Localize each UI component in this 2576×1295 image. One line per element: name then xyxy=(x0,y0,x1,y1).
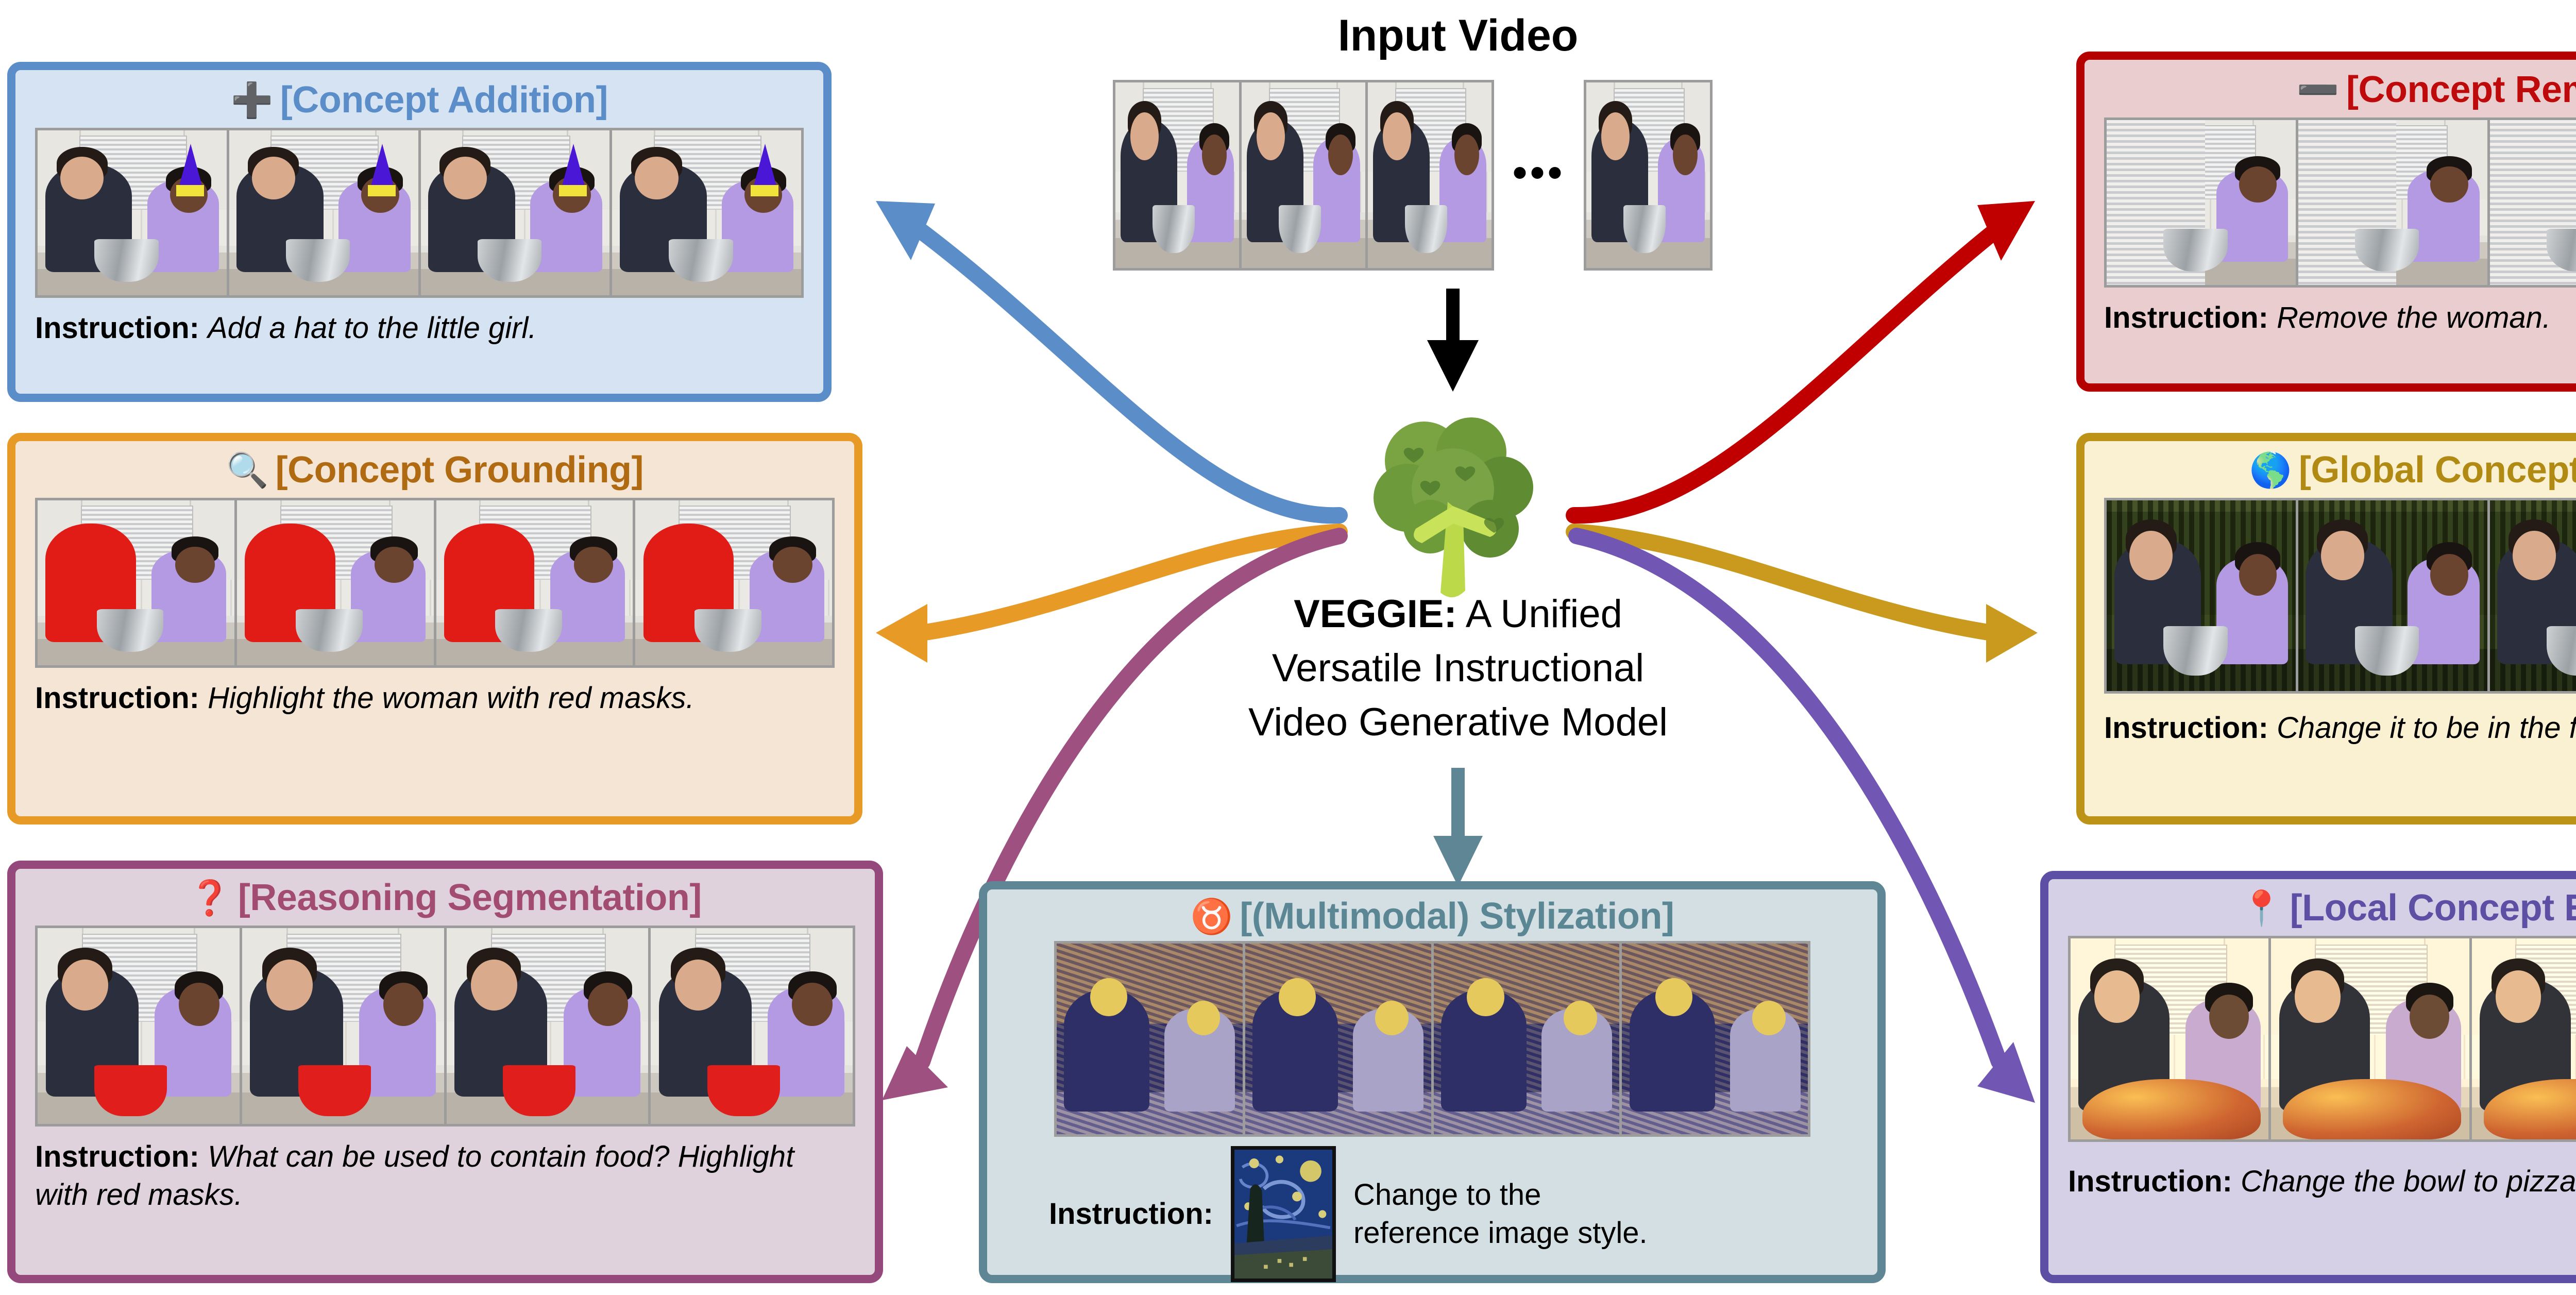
panel-title-multimodal-stylization: ♉ [(Multimodal) Stylization] xyxy=(987,898,1877,935)
instruction-concept-removal: Instruction: Remove the woman. xyxy=(2104,299,2576,337)
input-video-filmstrip: ••• xyxy=(1113,80,1713,271)
instruction-label: Instruction: xyxy=(35,681,199,715)
input-frame-group xyxy=(1113,80,1494,271)
video-frame xyxy=(1245,944,1431,1134)
instruction-global-concept-editing: Instruction: Change it to be in the fore… xyxy=(2104,709,2576,747)
figure-canvas: Input Video ••• xyxy=(0,0,2576,1295)
input-frame xyxy=(1368,82,1492,268)
panel-global-concept-editing[interactable]: 🌎 [Global Concept Editing] Instruction: … xyxy=(2076,433,2576,825)
video-frame xyxy=(2298,120,2487,285)
instruction-label: Instruction: xyxy=(1049,1197,1213,1231)
model-name-caption: VEGGIE: A Unified Versatile Instructiona… xyxy=(1113,587,1803,750)
panel-title-concept-grounding: 🔍 [Concept Grounding] xyxy=(15,451,854,489)
minus-icon: ➖ xyxy=(2297,73,2339,107)
panel-title-local-concept-editing: 📍 [Local Concept Editing] xyxy=(2048,889,2576,927)
panel-local-concept-editing[interactable]: 📍 [Local Concept Editing] Instruction: C… xyxy=(2040,871,2576,1283)
panel-title-global-concept-editing: 🌎 [Global Concept Editing] xyxy=(2084,451,2576,489)
magnifier-icon: 🔍 xyxy=(226,453,268,487)
video-frame xyxy=(447,928,649,1124)
video-frame xyxy=(38,130,227,295)
input-frame xyxy=(1115,82,1239,268)
instruction-multimodal-stylization: Instruction: xyxy=(1049,1146,1877,1282)
instruction-text: Remove the woman. xyxy=(2277,301,2551,334)
video-frame xyxy=(2472,938,2576,1139)
video-frame xyxy=(651,928,853,1124)
instruction-text: Highlight the woman with red masks. xyxy=(208,681,694,715)
instruction-label: Instruction: xyxy=(2068,1165,2232,1198)
video-frame xyxy=(242,928,444,1124)
video-frame xyxy=(1057,944,1243,1134)
panel-concept-removal[interactable]: ➖ [Concept Removal] Instruction: Remove … xyxy=(2076,52,2576,392)
panel-title-concept-removal: ➖ [Concept Removal] xyxy=(2084,71,2576,108)
input-frame-group-last xyxy=(1584,80,1713,271)
filmstrip-reasoning-segmentation xyxy=(35,926,855,1126)
panel-multimodal-stylization[interactable]: ♉ [(Multimodal) Stylization] Instruction… xyxy=(979,881,1886,1283)
model-tagline-2: Versatile Instructional xyxy=(1272,646,1644,690)
video-frame xyxy=(1622,944,1808,1134)
model-name: VEGGIE: xyxy=(1294,592,1457,636)
panel-concept-addition[interactable]: ➕ [Concept Addition] Instruction: Add a … xyxy=(7,62,832,402)
video-frame xyxy=(2107,500,2296,691)
panel-title-text: [Concept Grounding] xyxy=(276,451,643,489)
bull-icon: ♉ xyxy=(1191,899,1233,933)
filmstrip-local-concept-editing xyxy=(2068,936,2576,1142)
video-frame xyxy=(2107,120,2296,285)
panel-title-concept-addition: ➕ [Concept Addition] xyxy=(15,81,823,119)
instruction-label: Instruction: xyxy=(35,1140,199,1173)
video-frame xyxy=(612,130,801,295)
video-frame xyxy=(38,928,240,1124)
filmstrip-concept-grounding xyxy=(35,498,835,668)
instruction-reasoning-segmentation: Instruction: What can be used to contain… xyxy=(35,1138,855,1214)
video-frame xyxy=(436,500,633,665)
panel-title-reasoning-segmentation: ❓ [Reasoning Segmentation] xyxy=(15,879,875,916)
instruction-concept-addition: Instruction: Add a hat to the little gir… xyxy=(35,309,804,347)
video-frame xyxy=(1434,944,1620,1134)
panel-title-text: [Reasoning Segmentation] xyxy=(238,879,702,916)
video-frame xyxy=(237,500,434,665)
instruction-concept-grounding: Instruction: Highlight the woman with re… xyxy=(35,679,835,717)
instruction-text: Add a hat to the little girl. xyxy=(208,311,536,345)
input-frame xyxy=(1242,82,1365,268)
panel-concept-grounding[interactable]: 🔍 [Concept Grounding] Instruction: Highl… xyxy=(7,433,862,825)
instruction-local-concept-editing: Instruction: Change the bowl to pizza. xyxy=(2068,1163,2576,1201)
input-video-title: Input Video xyxy=(1200,10,1716,61)
video-frame xyxy=(421,130,610,295)
panel-reasoning-segmentation[interactable]: ❓ [Reasoning Segmentation] Instruction: … xyxy=(7,861,883,1283)
instruction-label: Instruction: xyxy=(35,311,199,345)
arrow-to-multimodal-stylization xyxy=(1433,768,1483,886)
video-frame xyxy=(635,500,832,665)
video-frame xyxy=(2298,500,2487,691)
filmstrip-global-concept-editing xyxy=(2104,498,2576,694)
input-frame xyxy=(1586,82,1710,268)
model-tagline-1: A Unified xyxy=(1457,592,1622,636)
starry-night-thumbnail xyxy=(1231,1146,1336,1282)
filmstrip-multimodal-stylization xyxy=(1054,941,1810,1137)
globe-icon: 🌎 xyxy=(2249,453,2292,487)
panel-title-text: [Global Concept Editing] xyxy=(2299,451,2576,489)
panel-title-text: [Local Concept Editing] xyxy=(2290,889,2576,927)
panel-title-text: [(Multimodal) Stylization] xyxy=(1240,898,1674,935)
arrow-input-to-model xyxy=(1427,289,1479,392)
instruction-text: Change it to be in the forest. xyxy=(2277,711,2576,745)
model-tagline-3: Video Generative Model xyxy=(1248,700,1668,744)
instruction-text: Change to the reference image style. xyxy=(1353,1176,1673,1252)
instruction-text: Change the bowl to pizza. xyxy=(2241,1165,2576,1198)
video-frame xyxy=(2490,500,2576,691)
video-frame xyxy=(229,130,418,295)
instruction-label: Instruction: xyxy=(2104,711,2268,745)
plus-icon: ➕ xyxy=(231,83,273,117)
broccoli-icon xyxy=(1350,407,1556,613)
video-frame xyxy=(38,500,234,665)
ellipsis-indicator: ••• xyxy=(1494,80,1584,265)
panel-title-text: [Concept Removal] xyxy=(2346,71,2576,108)
filmstrip-concept-addition xyxy=(35,128,804,298)
filmstrip-concept-removal xyxy=(2104,117,2576,288)
question-mark-icon: ❓ xyxy=(189,881,231,915)
instruction-label: Instruction: xyxy=(2104,301,2268,334)
map-pin-icon: 📍 xyxy=(2241,891,2283,925)
video-frame xyxy=(2071,938,2268,1139)
video-frame xyxy=(2490,120,2576,285)
video-frame xyxy=(2271,938,2469,1139)
panel-title-text: [Concept Addition] xyxy=(280,81,608,119)
